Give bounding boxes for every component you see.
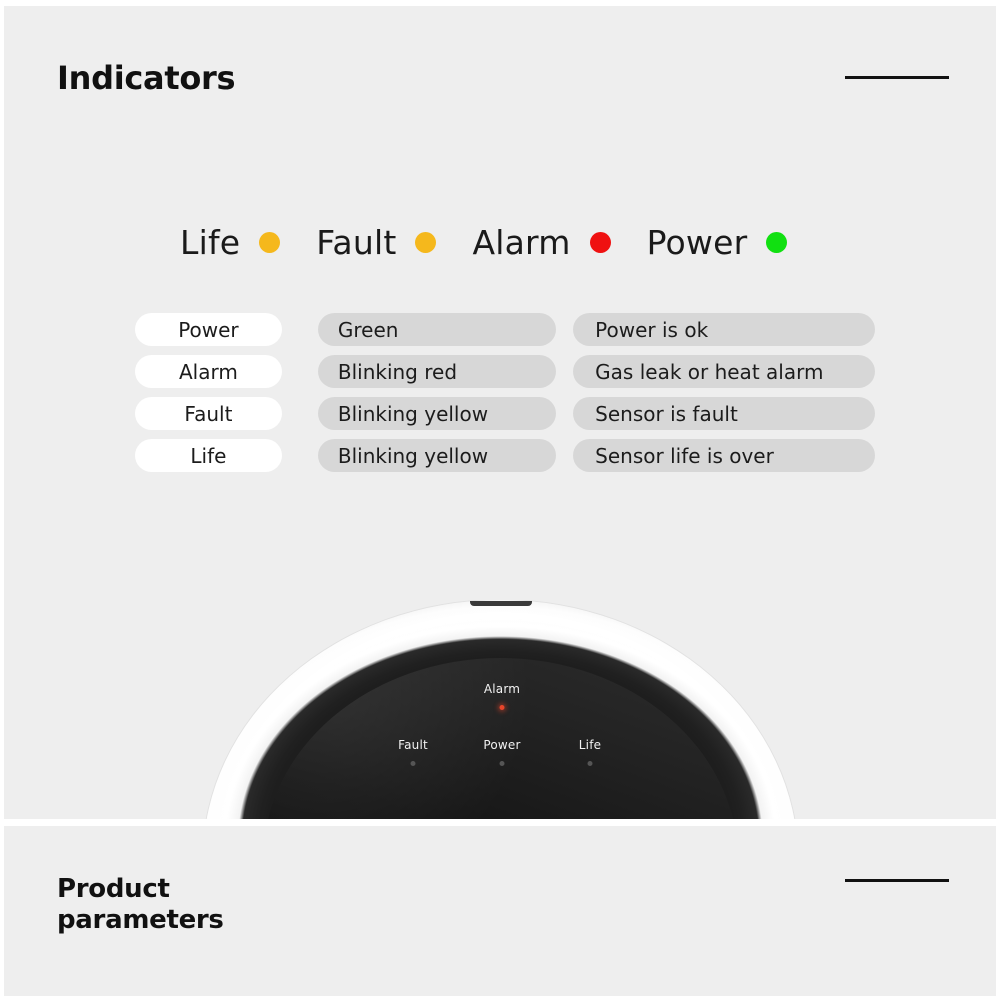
table-row: Life Blinking yellow Sensor life is over <box>135 439 875 472</box>
indicator-legend: Life Fault Alarm Power <box>180 213 840 271</box>
life-indicator-dot <box>259 232 280 253</box>
row-name-cell: Fault <box>135 397 282 430</box>
table-row: Alarm Blinking red Gas leak or heat alar… <box>135 355 875 388</box>
row-description-cell: Gas leak or heat alarm <box>573 355 875 388</box>
product-page: Indicators Life Fault Alarm Power Power … <box>0 0 1000 1000</box>
indicators-title-rule <box>845 76 949 79</box>
device-led-life <box>588 761 593 766</box>
row-name-cell: Life <box>135 439 282 472</box>
device-label-fault: Fault <box>398 738 428 752</box>
device-label-life: Life <box>579 738 601 752</box>
row-color-cell: Blinking red <box>318 355 556 388</box>
row-name-cell: Power <box>135 313 282 346</box>
legend-item-power: Power <box>647 223 788 262</box>
page-title: Indicators <box>57 60 235 98</box>
product-title-rule <box>845 879 949 882</box>
table-row: Power Green Power is ok <box>135 313 875 346</box>
row-name-cell: Alarm <box>135 355 282 388</box>
product-parameters-title: Product parameters <box>57 874 387 935</box>
alarm-indicator-dot <box>590 232 611 253</box>
indicator-table: Power Green Power is ok Alarm Blinking r… <box>135 313 875 481</box>
product-title-line1: Product <box>57 874 170 904</box>
device-led-fault <box>411 761 416 766</box>
row-color-cell: Blinking yellow <box>318 397 556 430</box>
legend-spacer <box>280 242 316 243</box>
device-label-power: Power <box>483 738 520 752</box>
fault-indicator-dot <box>415 232 436 253</box>
power-indicator-dot <box>766 232 787 253</box>
row-description-cell: Sensor life is over <box>573 439 875 472</box>
legend-item-life: Life <box>180 223 280 262</box>
row-description-cell: Sensor is fault <box>573 397 875 430</box>
device-photo: Alarm Fault Power Life <box>203 600 798 822</box>
legend-label-fault: Fault <box>316 223 396 262</box>
row-color-cell: Green <box>318 313 556 346</box>
legend-item-alarm: Alarm <box>472 223 610 262</box>
legend-label-life: Life <box>180 223 240 262</box>
device-label-alarm: Alarm <box>484 682 520 696</box>
row-description-cell: Power is ok <box>573 313 875 346</box>
device-housing: Alarm Fault Power Life <box>203 600 798 822</box>
device-led-power <box>500 761 505 766</box>
device-led-alarm <box>500 705 505 710</box>
table-row: Fault Blinking yellow Sensor is fault <box>135 397 875 430</box>
device-notch <box>470 601 532 606</box>
legend-label-alarm: Alarm <box>472 223 570 262</box>
legend-spacer <box>611 242 647 243</box>
product-title-line2: parameters <box>57 905 387 936</box>
legend-spacer <box>436 242 472 243</box>
legend-item-fault: Fault <box>316 223 436 262</box>
legend-label-power: Power <box>647 223 748 262</box>
row-color-cell: Blinking yellow <box>318 439 556 472</box>
